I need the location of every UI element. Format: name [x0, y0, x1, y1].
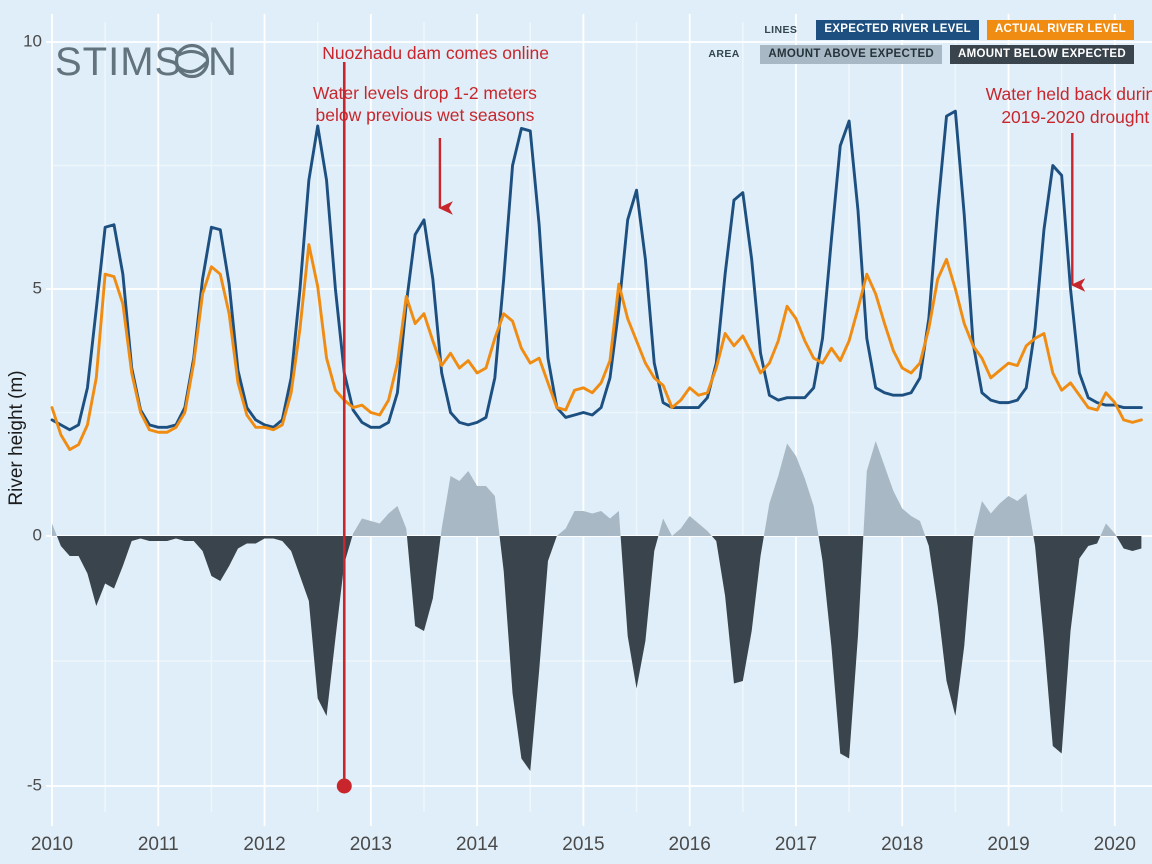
- x-tick-label: 2010: [31, 834, 73, 855]
- x-tick-label: 2017: [775, 834, 817, 855]
- legend-chip-amount-below-expected[interactable]: AMOUNT BELOW EXPECTED: [950, 45, 1134, 65]
- annotation-dam-online-dot: [337, 779, 352, 794]
- annotation-drought-text: 2019-2020 drought: [1001, 107, 1149, 127]
- annotation-dam-online-text: Nuozhadu dam comes online: [322, 43, 549, 63]
- legend-row-lines: LINES EXPECTED RIVER LEVEL ACTUAL RIVER …: [708, 20, 1134, 40]
- legend-chip-amount-above-expected[interactable]: AMOUNT ABOVE EXPECTED: [760, 45, 942, 65]
- river-height-chart: 1050-5 201020112012201320142015201620172…: [0, 0, 1152, 864]
- x-tick-label: 2016: [669, 834, 711, 855]
- y-tick-label: -5: [27, 775, 42, 794]
- x-tick-label: 2019: [987, 834, 1029, 855]
- y-tick-label: 10: [23, 31, 42, 50]
- y-axis-label: River height (m): [6, 370, 27, 505]
- legend-chip-actual-river-level[interactable]: ACTUAL RIVER LEVEL: [987, 20, 1134, 40]
- chart-background: [0, 0, 1152, 864]
- x-tick-label: 2013: [350, 834, 392, 855]
- annotation-levels-drop-text: Water levels drop 1-2 meters: [313, 83, 537, 103]
- chart-stage: 1050-5 201020112012201320142015201620172…: [0, 0, 1152, 864]
- logo-text-tail: N: [208, 40, 238, 84]
- x-tick-label: 2012: [243, 834, 285, 855]
- x-tick-label: 2018: [881, 834, 923, 855]
- annotation-drought-text: Water held back during: [986, 84, 1152, 104]
- x-tick-label: 2015: [562, 834, 604, 855]
- x-tick-label: 2020: [1094, 834, 1136, 855]
- x-tick-label: 2014: [456, 834, 499, 855]
- stimson-logo: STIMS N: [55, 40, 238, 84]
- legend-kind-lines: LINES: [764, 24, 808, 36]
- annotation-levels-drop-text: below previous wet seasons: [315, 105, 534, 125]
- y-tick-label: 5: [33, 278, 42, 297]
- logo-text: STIMS: [55, 40, 182, 84]
- legend-chip-expected-river-level[interactable]: EXPECTED RIVER LEVEL: [816, 20, 979, 40]
- x-tick-label: 2011: [138, 834, 179, 855]
- y-tick-label: 0: [33, 525, 42, 544]
- legend-kind-area: AREA: [708, 48, 752, 60]
- legend-row-area: AREA AMOUNT ABOVE EXPECTED AMOUNT BELOW …: [708, 45, 1134, 65]
- chart-legend: LINES EXPECTED RIVER LEVEL ACTUAL RIVER …: [708, 20, 1134, 69]
